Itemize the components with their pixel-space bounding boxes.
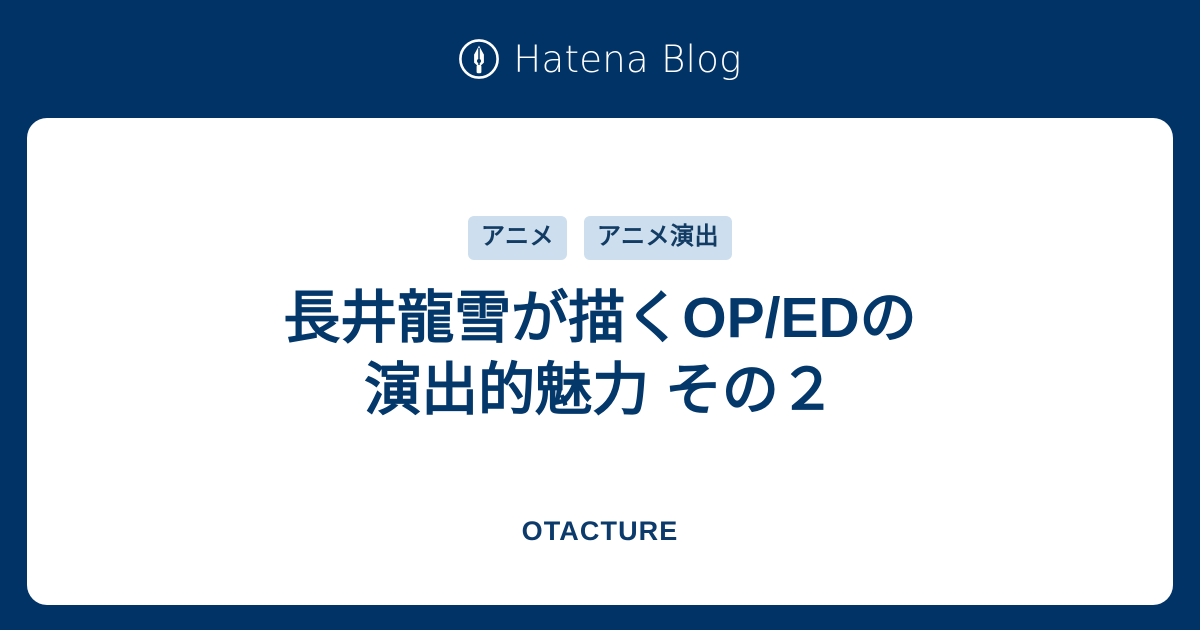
entry-tag-1[interactable]: アニメ [468, 216, 567, 260]
entry-title-line-1: 長井龍雪が描くOP/EDの [283, 286, 916, 350]
entry-tag-2[interactable]: アニメ演出 [584, 216, 732, 260]
fountain-pen-nib-icon [458, 38, 500, 80]
ogp-card-root: Hatena Blog アニメ アニメ演出 長井龍雪が描くOP/EDの 演出的魅… [0, 0, 1200, 630]
blog-name: OTACTURE [27, 518, 1173, 545]
entry-card: アニメ アニメ演出 長井龍雪が描くOP/EDの 演出的魅力 その２ OTACTU… [27, 118, 1173, 605]
brand-name: Hatena Blog [513, 41, 741, 78]
entry-title: 長井龍雪が描くOP/EDの 演出的魅力 その２ [223, 282, 976, 427]
entry-tag-list: アニメ アニメ演出 [468, 216, 732, 260]
entry-title-line-2: 演出的魅力 その２ [364, 358, 836, 422]
brand-header: Hatena Blog [0, 0, 1200, 118]
